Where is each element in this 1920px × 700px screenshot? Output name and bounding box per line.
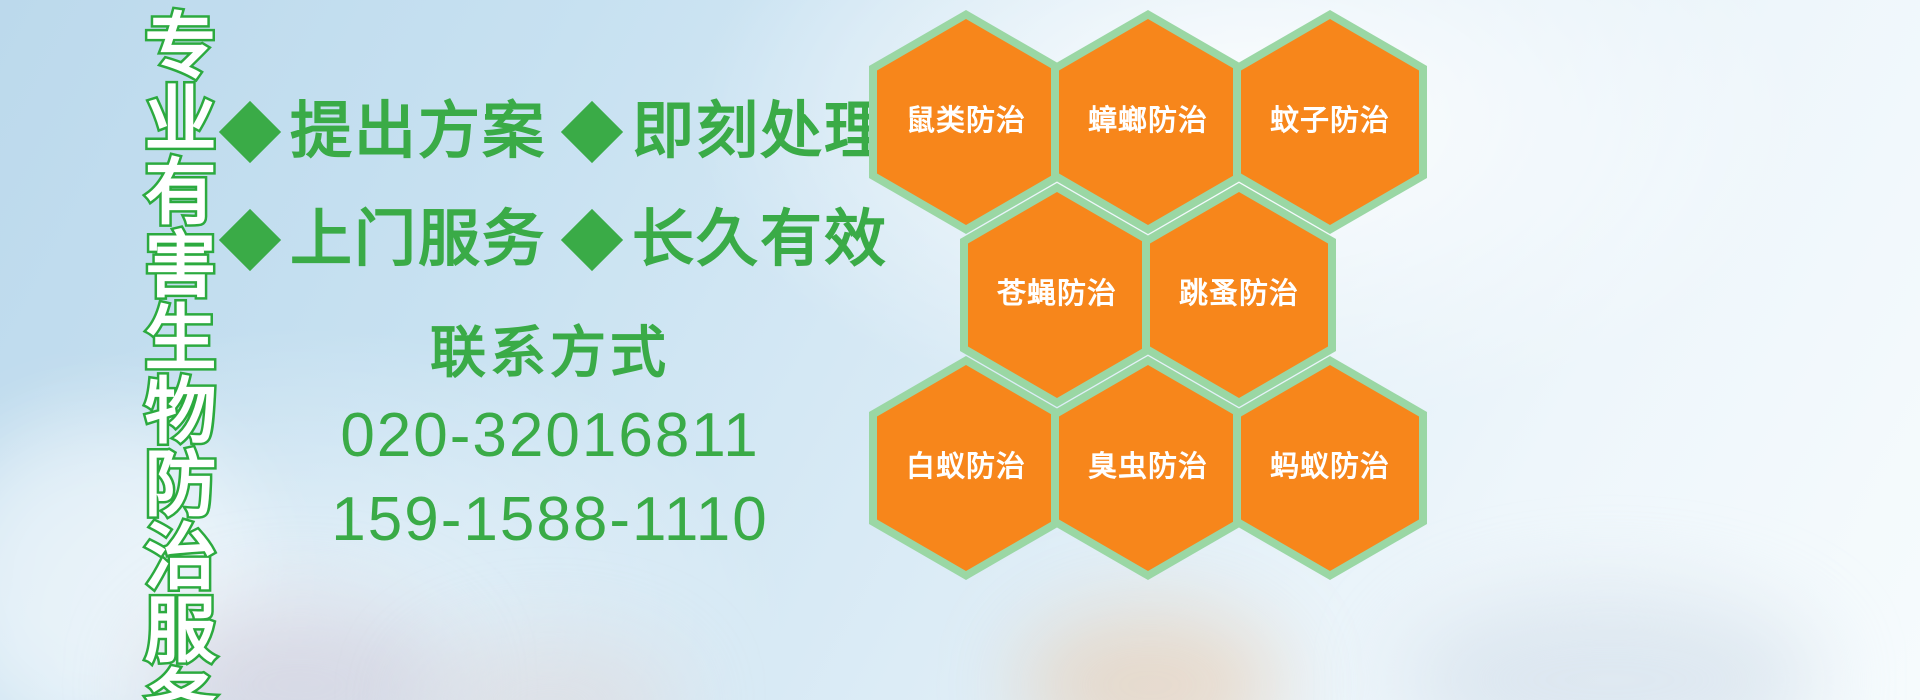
hex-inner: 跳蚤防治 — [1150, 192, 1328, 398]
feature-item-door-to-door-service: 上门服务 — [228, 209, 546, 271]
diamond-icon — [219, 101, 281, 163]
hex-inner: 鼠类防治 — [877, 19, 1055, 225]
hex-label: 鼠类防治 — [906, 106, 1026, 138]
hex-label: 苍蝇防治 — [997, 279, 1117, 311]
hex-inner: 苍蝇防治 — [968, 192, 1146, 398]
feature-row-2: 上门服务 长久有效 — [228, 186, 868, 294]
contact-block: 联系方式 020-32016811 159-1588-1110 — [300, 318, 800, 561]
hex-inner: 臭虫防治 — [1059, 365, 1237, 571]
diamond-icon — [561, 101, 623, 163]
hex-label: 蟑螂防治 — [1088, 106, 1208, 138]
contact-phone-mobile[interactable]: 159-1588-1110 — [300, 478, 800, 562]
feature-label: 即刻处理 — [632, 101, 888, 163]
vertical-headline: 专业有害生物防治服务 — [105, 8, 209, 568]
hex-inner: 蚂蚁防治 — [1241, 365, 1419, 571]
promo-banner: 专业有害生物防治服务 提出方案 即刻处理 上门服务 长久有效 联系方式 — [0, 0, 1920, 700]
contact-phone-landline[interactable]: 020-32016811 — [300, 394, 800, 478]
feature-row-1: 提出方案 即刻处理 — [228, 78, 868, 186]
background-blob-b — [420, 640, 680, 700]
background-blob-d — [1400, 590, 1820, 700]
hex-label: 白蚁防治 — [906, 452, 1026, 484]
service-hexagon-grid: 鼠类防治 蟑螂防治 蚊子防治 苍蝇防治 跳蚤防治 白蚁防治 — [855, 0, 1475, 570]
hex-inner: 蟑螂防治 — [1059, 19, 1237, 225]
contact-heading: 联系方式 — [300, 318, 800, 388]
hex-label: 臭虫防治 — [1088, 452, 1208, 484]
feature-label: 上门服务 — [290, 209, 546, 271]
feature-list: 提出方案 即刻处理 上门服务 长久有效 — [228, 78, 868, 294]
hex-label: 蚊子防治 — [1270, 106, 1390, 138]
feature-label: 提出方案 — [290, 101, 546, 163]
background-blob-c — [1020, 610, 1280, 700]
feature-item-immediate-handling: 即刻处理 — [570, 101, 888, 163]
diamond-icon — [219, 209, 281, 271]
hex-label: 跳蚤防治 — [1179, 279, 1299, 311]
hex-inner: 白蚁防治 — [877, 365, 1055, 571]
feature-item-long-lasting-effect: 长久有效 — [570, 209, 888, 271]
hex-inner: 蚊子防治 — [1241, 19, 1419, 225]
feature-label: 长久有效 — [632, 209, 888, 271]
feature-item-propose-plan: 提出方案 — [228, 101, 546, 163]
hex-label: 蚂蚁防治 — [1270, 452, 1390, 484]
diamond-icon — [561, 209, 623, 271]
